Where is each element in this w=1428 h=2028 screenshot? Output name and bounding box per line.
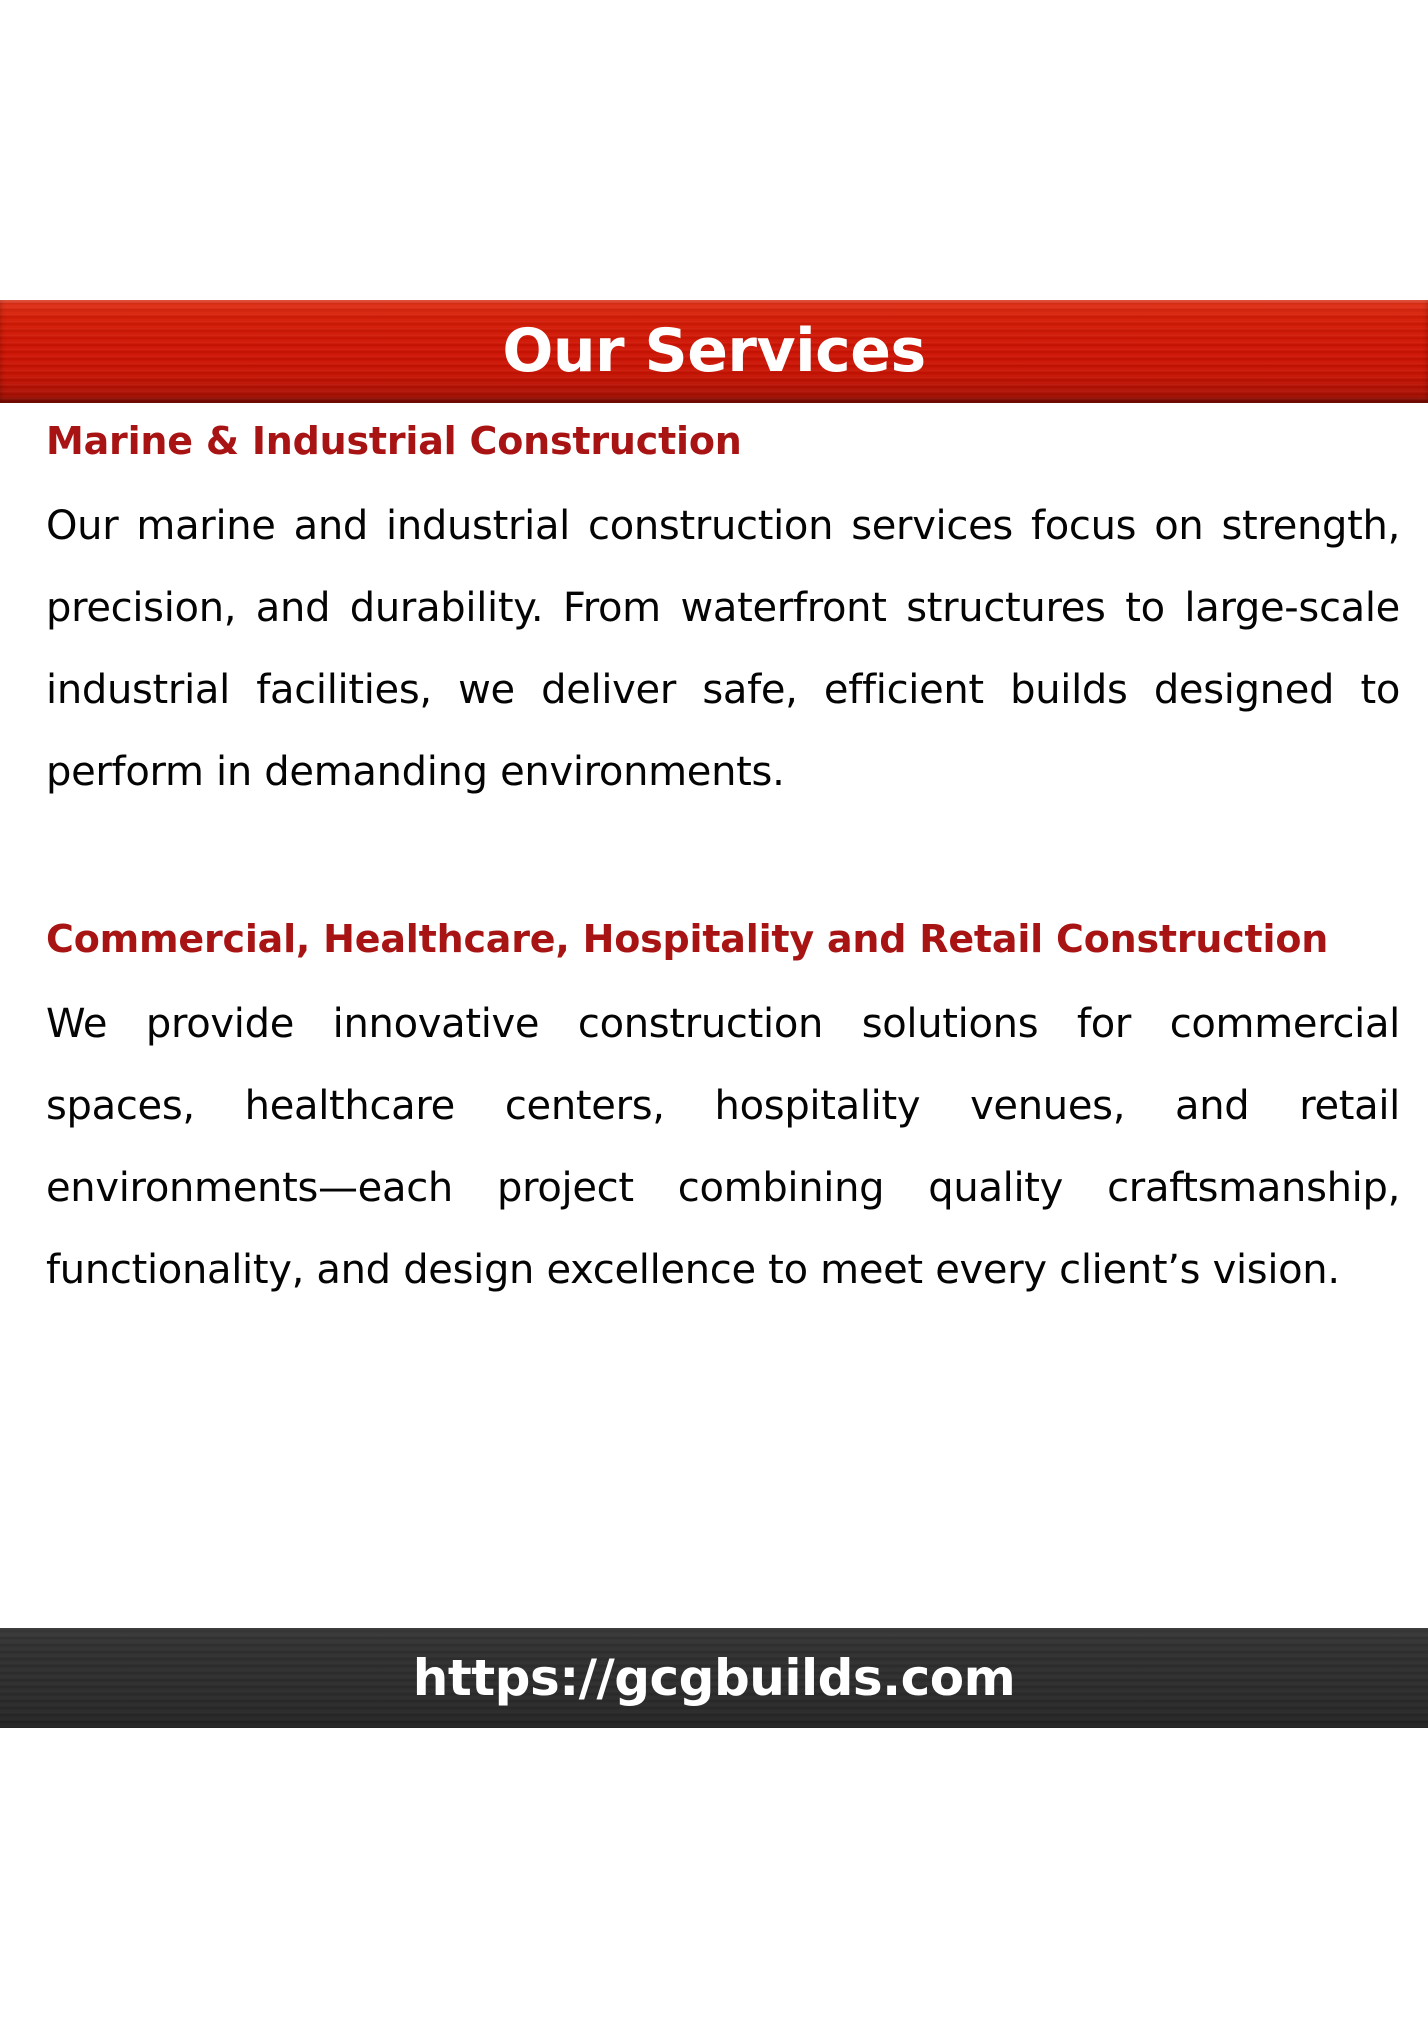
footer-bar: https://gcgbuilds.com (0, 1628, 1428, 1728)
service-heading: Marine & Industrial Construction (46, 403, 1400, 479)
section-banner: Our Services (0, 300, 1428, 403)
bottom-whitespace (0, 1728, 1428, 2028)
service-section-commercial-healthcare: Commercial, Healthcare, Hospitality and … (46, 901, 1400, 1311)
top-whitespace (0, 0, 1428, 300)
service-section-marine-industrial: Marine & Industrial Construction Our mar… (46, 403, 1400, 813)
service-heading: Commercial, Healthcare, Hospitality and … (46, 901, 1400, 977)
website-url[interactable]: https://gcgbuilds.com (413, 1653, 1016, 1703)
service-body-text: We provide innovative construction solut… (46, 983, 1400, 1311)
service-body-text: Our marine and industrial construction s… (46, 485, 1400, 813)
banner-title: Our Services (502, 321, 925, 381)
services-page: Our Services Marine & Industrial Constru… (0, 0, 1428, 2028)
services-content: Marine & Industrial Construction Our mar… (0, 403, 1428, 1311)
